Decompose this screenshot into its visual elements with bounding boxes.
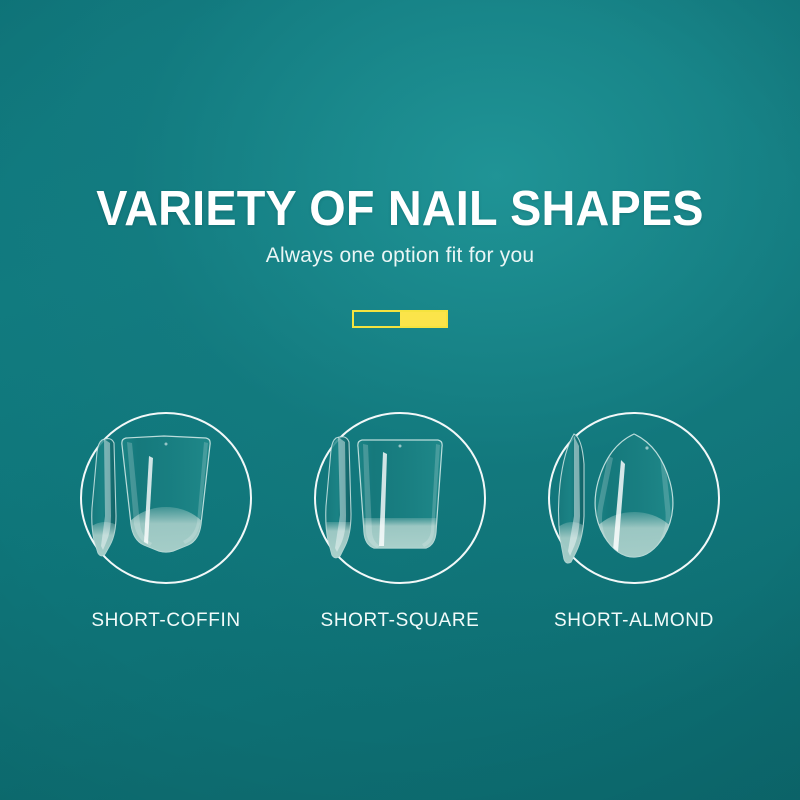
nail-square-side-view (319, 437, 363, 567)
nail-shape-circle-short-coffin (80, 412, 252, 584)
page-title: VARIETY OF NAIL SHAPES (18, 182, 782, 236)
yellow-accent-bar (352, 310, 448, 328)
background-vignette (0, 0, 800, 800)
page-subtitle: Always one option fit for you (0, 243, 800, 269)
nail-almond-side-view (544, 434, 600, 602)
nail-shape-card-short-square[interactable]: SHORT-SQUARE (314, 412, 486, 632)
nail-coffin-front-view (120, 436, 212, 583)
nail-shape-gallery: SHORT-COFFIN (0, 412, 800, 632)
accent-bar-right-segment (400, 312, 446, 326)
divider-container (0, 310, 800, 328)
accent-bar-left-segment (354, 312, 400, 326)
nail-shape-card-short-almond[interactable]: SHORT-ALMOND (548, 412, 720, 632)
nail-shape-circle-short-square (314, 412, 486, 584)
nail-square-front-view (354, 440, 449, 558)
nail-shape-label-short-square: SHORT-SQUARE (321, 610, 480, 632)
nail-almond-front-view (586, 434, 682, 592)
header: VARIETY OF NAIL SHAPES Always one option… (0, 182, 800, 269)
nail-shape-label-short-almond: SHORT-ALMOND (554, 610, 714, 632)
nail-shape-circle-short-almond (548, 412, 720, 584)
poster-canvas: VARIETY OF NAIL SHAPES Always one option… (0, 0, 800, 800)
nail-shape-card-short-coffin[interactable]: SHORT-COFFIN (80, 412, 252, 632)
nail-shape-label-short-coffin: SHORT-COFFIN (91, 610, 240, 632)
